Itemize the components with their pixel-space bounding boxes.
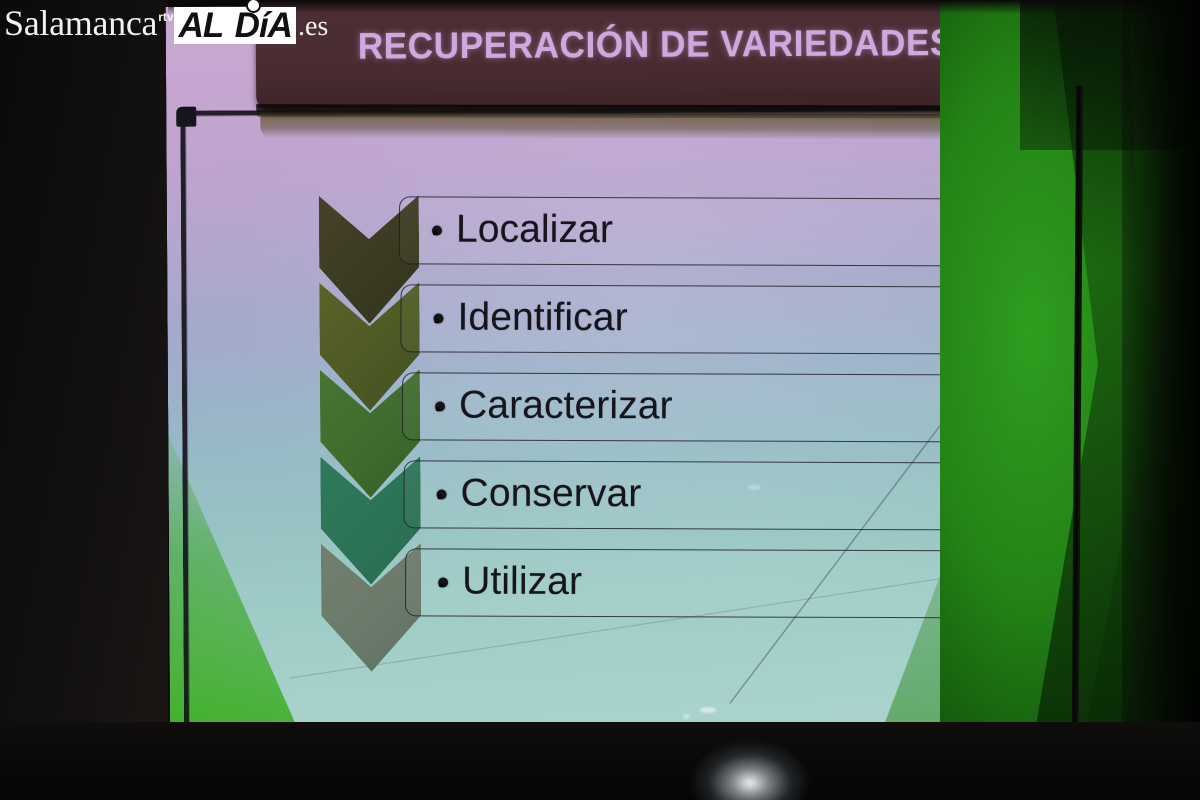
step-label: Utilizar [462, 561, 582, 600]
bullet-icon: • [435, 401, 445, 411]
bullet-icon: • [438, 577, 448, 587]
bullet-icon: • [434, 313, 444, 323]
sparkle [748, 485, 761, 490]
step-label: Localizar [456, 209, 613, 249]
watermark-logo: Salamanca rtv AL DíA .es [4, 2, 328, 50]
list-item[interactable]: • Identificar [400, 284, 1025, 354]
list-item[interactable]: • Localizar [399, 196, 1024, 266]
slide-green-overlay-left [168, 434, 300, 735]
screen-frame-corner-left [176, 107, 196, 127]
list-item[interactable]: • Utilizar [405, 548, 1030, 618]
room-floor-shadow [0, 722, 1200, 800]
list-item[interactable]: • Conservar [403, 460, 1028, 530]
light-reflection [690, 740, 810, 800]
watermark-dia: DíA [235, 6, 292, 45]
sparkle [683, 714, 690, 719]
step-label: Identificar [457, 297, 627, 337]
step-list: • Localizar • Identificar • Caracterizar… [399, 196, 1030, 670]
photo-scene: RECUPERACIÓN DE VARIEDADES • Localizar •… [0, 0, 1200, 800]
slide-title: RECUPERACIÓN DE VARIEDADES [276, 21, 1036, 68]
watermark-accent-circle-icon [246, 0, 261, 13]
slide-title-banner: RECUPERACIÓN DE VARIEDADES [256, 0, 1057, 110]
watermark-tld: .es [298, 11, 328, 43]
watermark-rtv: rtv [158, 10, 173, 24]
bullet-icon: • [432, 226, 442, 236]
watermark-brand: Salamanca [4, 2, 157, 44]
room-wall-right [1122, 0, 1200, 800]
list-item[interactable]: • Caracterizar [402, 372, 1027, 442]
step-label: Conservar [461, 473, 642, 513]
step-label: Caracterizar [459, 385, 673, 425]
watermark-box: AL DíA [174, 7, 296, 44]
watermark-al: AL [179, 6, 224, 45]
bullet-icon: • [437, 489, 447, 499]
sparkle [700, 707, 716, 713]
